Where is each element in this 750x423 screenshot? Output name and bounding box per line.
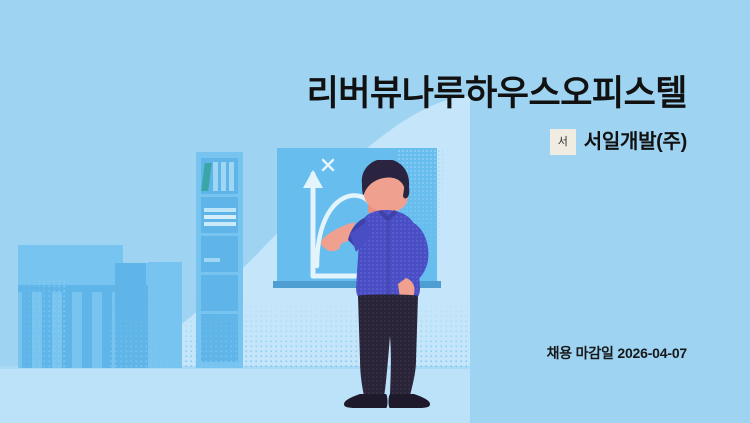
person-right-shoe [389,394,431,408]
shelf-flat-item [204,258,220,262]
job-posting-banner: 리버뷰나루하우스오피스텔 서 서일개발(주) 채용 마감일 2026-04-07 [0,0,750,423]
bookshelf-shelf-3 [201,236,238,272]
company-badge: 서 [550,129,576,155]
book [221,162,226,191]
shelf-flat-item [204,222,236,226]
standing-person-illustration [320,160,450,410]
company-name: 서일개발(주) [584,132,687,152]
person-left-shoe [344,394,388,408]
book [229,162,234,191]
shelf-flat-item [204,208,236,212]
shelf-flat-item [204,215,236,219]
book [213,162,218,191]
company-row: 서 서일개발(주) [0,129,687,155]
bookshelf-shelf-4 [201,275,238,311]
page-title: 리버뷰나루하우스오피스텔 [0,76,687,111]
application-deadline: 채용 마감일 2026-04-07 [0,343,687,363]
